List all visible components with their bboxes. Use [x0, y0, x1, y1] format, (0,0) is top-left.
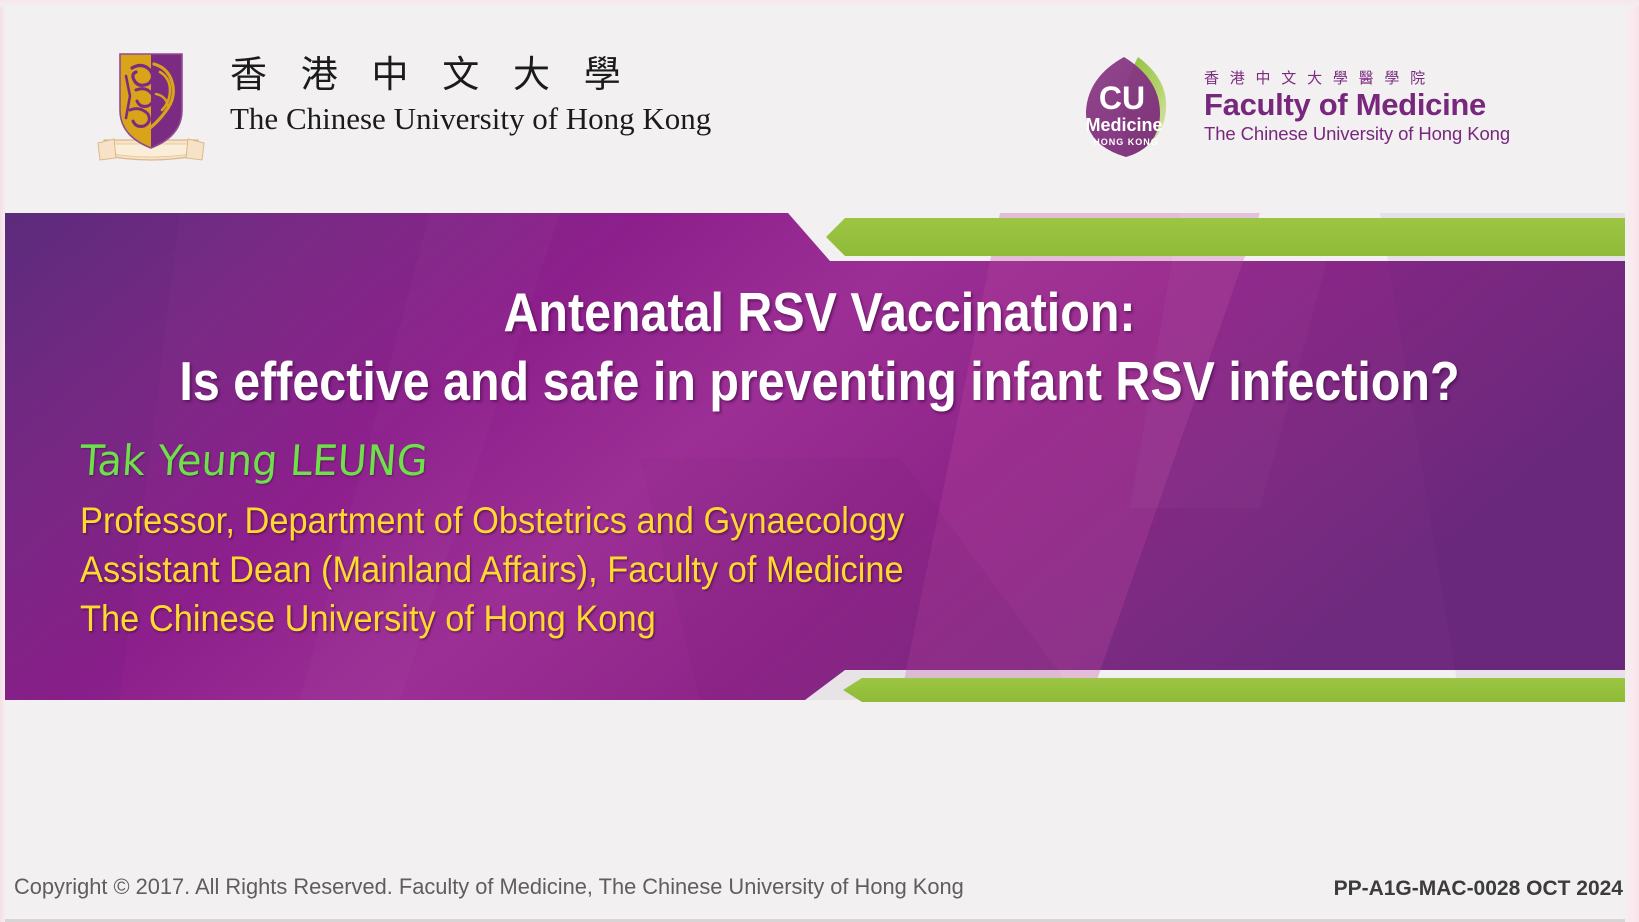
author-name: Tak Yeung LEUNG: [79, 440, 924, 482]
slide-title-line-2: Is effective and safe in preventing infa…: [98, 349, 1540, 413]
author-affiliation-1: Professor, Department of Obstetrics and …: [80, 496, 904, 545]
author-block: Tak Yeung LEUNG Professor, Department of…: [80, 440, 966, 644]
cu-medicine-university-name: The Chinese University of Hong Kong: [1204, 123, 1510, 145]
svg-text:Medicine: Medicine: [1085, 115, 1162, 135]
cu-medicine-leaf-icon: CU Medicine HONG KONG: [1068, 45, 1190, 167]
author-affiliation-2: Assistant Dean (Mainland Affairs), Facul…: [80, 545, 904, 594]
presentation-slide: 香 港 中 文 大 學 The Chinese University of Ho…: [0, 0, 1639, 922]
cuhk-english-name: The Chinese University of Hong Kong: [230, 100, 711, 139]
svg-text:CU: CU: [1099, 80, 1145, 116]
cu-medicine-faculty-name: Faculty of Medicine: [1204, 89, 1510, 122]
cuhk-chinese-name: 香 港 中 文 大 學: [230, 52, 711, 98]
slide-header: 香 港 中 文 大 學 The Chinese University of Ho…: [0, 0, 1639, 208]
copyright-notice: Copyright © 2017. All Rights Reserved. F…: [14, 874, 964, 900]
reference-code: PP-A1G-MAC-0028 OCT 2024: [1334, 877, 1623, 901]
title-banner-content: Antenatal RSV Vaccination: Is effective …: [0, 208, 1639, 708]
author-affiliation-3: The Chinese University of Hong Kong: [80, 594, 904, 643]
cuhk-wordmark: 香 港 中 文 大 學 The Chinese University of Ho…: [230, 52, 711, 139]
cuhk-university-logo: 香 港 中 文 大 學 The Chinese University of Ho…: [90, 48, 711, 170]
cu-medicine-logo: CU Medicine HONG KONG 香 港 中 文 大 學 醫 學 院 …: [1068, 45, 1510, 167]
slide-title-line-1: Antenatal RSV Vaccination:: [98, 280, 1540, 344]
svg-text:HONG KONG: HONG KONG: [1093, 137, 1159, 147]
cuhk-shield-icon: [90, 48, 212, 170]
cu-medicine-chinese-name: 香 港 中 文 大 學 醫 學 院: [1204, 67, 1510, 88]
cu-medicine-wordmark: 香 港 中 文 大 學 醫 學 院 Faculty of Medicine Th…: [1204, 67, 1510, 145]
